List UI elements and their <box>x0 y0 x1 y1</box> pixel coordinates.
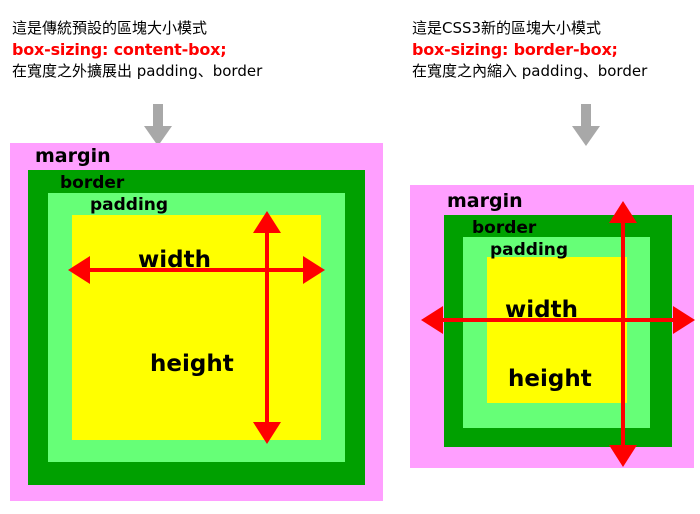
left-caption-block: 這是傳統預設的區塊大小模式 box-sizing: content-box; 在… <box>12 18 262 81</box>
down-arrow-icon <box>572 104 600 146</box>
border-label: border <box>472 218 536 238</box>
height-measure-arrow <box>250 211 284 444</box>
left-caption-code: box-sizing: content-box; <box>12 39 262 61</box>
arrow-head <box>572 126 600 146</box>
padding-label: padding <box>90 195 168 215</box>
height-label: height <box>150 351 234 377</box>
left-caption-line-1: 這是傳統預設的區塊大小模式 <box>12 18 262 39</box>
left-caption-line-3: 在寬度之外擴展出 padding、border <box>12 61 262 82</box>
arrow-head-left <box>421 306 443 334</box>
height-measure-arrow <box>606 201 640 467</box>
arrow-head-right <box>673 306 695 334</box>
arrow-head-bottom <box>609 445 637 467</box>
arrow-head-right <box>303 256 325 284</box>
arrow-head-left <box>68 256 90 284</box>
diagram-canvas: 這是傳統預設的區塊大小模式 box-sizing: content-box; 在… <box>0 0 700 514</box>
down-arrow-icon <box>144 104 172 146</box>
arrow-shaft <box>621 215 625 453</box>
right-caption-block: 這是CSS3新的區塊大小模式 box-sizing: border-box; 在… <box>412 18 647 81</box>
arrow-shaft <box>265 225 269 430</box>
padding-label: padding <box>490 240 568 260</box>
arrow-head-top <box>609 201 637 223</box>
arrow-shaft <box>153 104 163 128</box>
right-caption-line-3: 在寬度之內縮入 padding、border <box>412 61 647 82</box>
width-label: width <box>138 247 211 273</box>
margin-label: margin <box>447 190 523 212</box>
right-caption-line-1: 這是CSS3新的區塊大小模式 <box>412 18 647 39</box>
margin-label: margin <box>35 145 111 167</box>
width-label: width <box>505 297 578 323</box>
height-label: height <box>508 366 592 392</box>
content-box-diagram: margin border padding width height <box>10 143 383 501</box>
border-label: border <box>60 173 124 193</box>
arrow-head-bottom <box>253 422 281 444</box>
arrow-shaft <box>581 104 591 128</box>
right-caption-code: box-sizing: border-box; <box>412 39 647 61</box>
arrow-head-top <box>253 211 281 233</box>
border-box-diagram: margin border padding width height <box>410 185 694 468</box>
